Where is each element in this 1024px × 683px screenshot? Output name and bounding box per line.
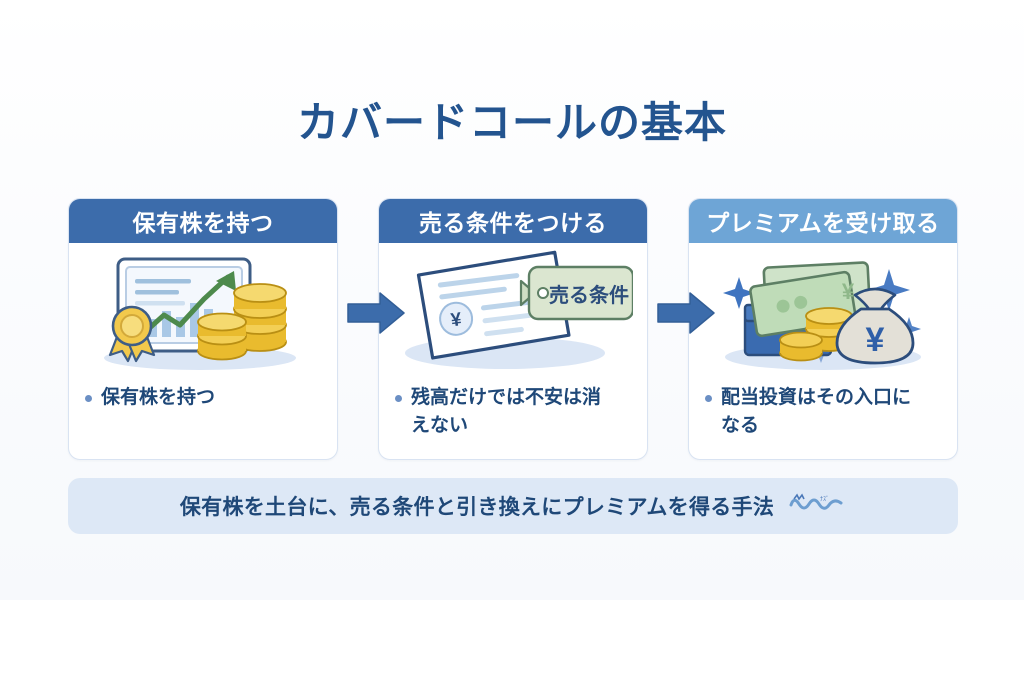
step-card-3-body: 配当投資はその入口になる bbox=[689, 378, 957, 439]
bullet-dot-icon bbox=[85, 395, 92, 402]
step-card-2-body: 残高だけでは不安は消えない bbox=[379, 378, 647, 439]
price-tag-label: 売る条件 bbox=[549, 283, 629, 307]
step-card-3-header: プレミアムを受け取る bbox=[689, 199, 957, 243]
step-card-2-header: 売る条件をつける bbox=[379, 199, 647, 243]
step-card-2: 売る条件をつける ¥ bbox=[378, 198, 648, 460]
cash-coins-money-bag-icon: ¥ ¥ bbox=[689, 243, 957, 378]
bullet-dot-icon bbox=[395, 395, 402, 402]
stock-chart-certificate-coins-icon bbox=[69, 243, 337, 378]
step-card-3: プレミアムを受け取る bbox=[688, 198, 958, 460]
page-title: カバードコールの基本 bbox=[0, 100, 1024, 146]
svg-text:ﾅｽﾞ: ﾅｽﾞ bbox=[820, 496, 829, 503]
contract-document-price-tag-icon: ¥ 売る条件 bbox=[379, 243, 647, 378]
yen-symbol: ¥ bbox=[866, 321, 885, 359]
svg-text:¥: ¥ bbox=[842, 279, 855, 304]
step-card-3-bullet: 配当投資はその入口になる bbox=[705, 384, 943, 439]
infographic-canvas: カバードコールの基本 保有株を持つ bbox=[0, 0, 1024, 683]
step-card-1-bullet: 保有株を持つ bbox=[85, 384, 323, 412]
arrow-step-1-to-2-icon bbox=[346, 290, 406, 336]
step-card-3-bullet-text: 配当投資はその入口になる bbox=[721, 384, 921, 439]
step-card-1-bullet-text: 保有株を持つ bbox=[101, 384, 215, 412]
bullet-dot-icon bbox=[705, 395, 712, 402]
arrow-step-2-to-3-icon bbox=[656, 290, 716, 336]
summary-banner: 保有株を土台に、売る条件と引き換えにプレミアムを得る手法 ﾅｽﾞ bbox=[68, 478, 958, 534]
steps-container: 保有株を持つ bbox=[68, 198, 958, 460]
summary-banner-text: 保有株を土台に、売る条件と引き換えにプレミアムを得る手法 bbox=[180, 491, 774, 521]
step-card-2-bullet-text: 残高だけでは不安は消えない bbox=[411, 384, 611, 439]
step-card-1-body: 保有株を持つ bbox=[69, 378, 337, 412]
step-card-1: 保有株を持つ bbox=[68, 198, 338, 460]
squiggle-wave-mark-icon: ﾅｽﾞ bbox=[788, 493, 846, 519]
step-card-2-bullet: 残高だけでは不安は消えない bbox=[395, 384, 633, 439]
step-card-1-header: 保有株を持つ bbox=[69, 199, 337, 243]
